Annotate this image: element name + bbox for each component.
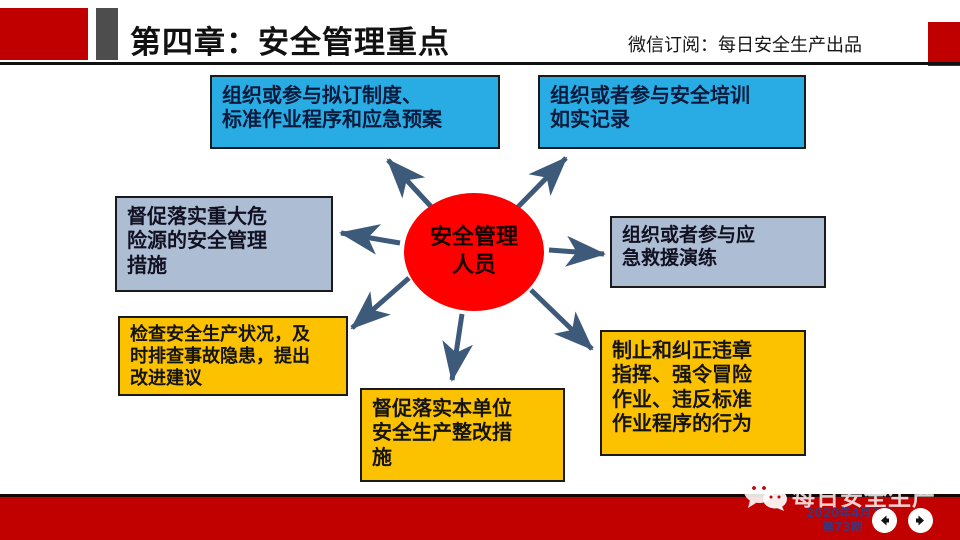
node-drill-line1: 组织或者参与应	[622, 224, 816, 247]
node-rectify[interactable]: 督促落实本单位 安全生产整改措 施	[360, 388, 565, 482]
node-drill[interactable]: 组织或者参与应 急救援演练	[610, 216, 826, 288]
center-label-line1: 安全管理	[430, 224, 518, 252]
arrow-to-major-hazard	[341, 233, 400, 243]
node-training-line1: 组织或者参与安全培训	[550, 83, 796, 107]
arrow-right-icon	[913, 513, 928, 528]
issue-number: 第73期	[822, 518, 863, 535]
next-page-button[interactable]	[908, 508, 933, 533]
node-inspect-line3: 改进建议	[130, 368, 338, 390]
node-inspect-line1: 检查安全生产状况，及	[130, 324, 338, 346]
arrow-to-rectify	[452, 314, 462, 380]
node-violation-line3: 作业、违反标准	[612, 387, 796, 411]
node-training[interactable]: 组织或者参与安全培训 如实记录	[538, 75, 806, 149]
node-inspect[interactable]: 检查安全生产状况，及 时排查事故隐患，提出 改进建议	[118, 316, 348, 396]
node-rectify-line2: 安全生产整改措	[372, 420, 555, 444]
node-major-hazard-line3: 措施	[127, 253, 323, 277]
node-violation-line4: 作业程序的行为	[612, 411, 796, 435]
arrow-to-drill	[549, 250, 604, 254]
node-major-hazard-line1: 督促落实重大危	[127, 204, 323, 228]
node-violation[interactable]: 制止和纠正违章 指挥、强令冒险 作业、违反标准 作业程序的行为	[600, 330, 806, 456]
node-rectify-line3: 施	[372, 445, 555, 469]
node-policy-line1: 组织或参与拟订制度、	[222, 83, 490, 107]
node-major-hazard-line2: 险源的安全管理	[127, 228, 323, 252]
prev-page-button[interactable]	[872, 508, 897, 533]
node-training-line2: 如实记录	[550, 107, 796, 131]
arrow-left-icon	[877, 513, 892, 528]
node-policy[interactable]: 组织或参与拟订制度、 标准作业程序和应急预案	[210, 75, 500, 149]
wechat-icon	[742, 478, 790, 512]
slide-canvas: 第四章：安全管理重点 微信订阅：每日安全生产出品 安全管理 人员 组织或参与拟订…	[0, 0, 960, 540]
node-violation-line2: 指挥、强令冒险	[612, 362, 796, 386]
node-violation-line1: 制止和纠正违章	[612, 338, 796, 362]
node-major-hazard[interactable]: 督促落实重大危 险源的安全管理 措施	[115, 196, 333, 292]
center-label-line2: 人员	[452, 252, 496, 280]
arrow-to-violation	[531, 290, 592, 349]
arrow-to-training	[514, 158, 566, 211]
center-node-safety-manager[interactable]: 安全管理 人员	[404, 193, 544, 311]
node-inspect-line2: 时排查事故隐患，提出	[130, 346, 338, 368]
node-policy-line2: 标准作业程序和应急预案	[222, 107, 490, 131]
node-drill-line2: 急救援演练	[622, 247, 816, 270]
arrow-to-inspect	[352, 278, 409, 328]
node-rectify-line1: 督促落实本单位	[372, 396, 555, 420]
